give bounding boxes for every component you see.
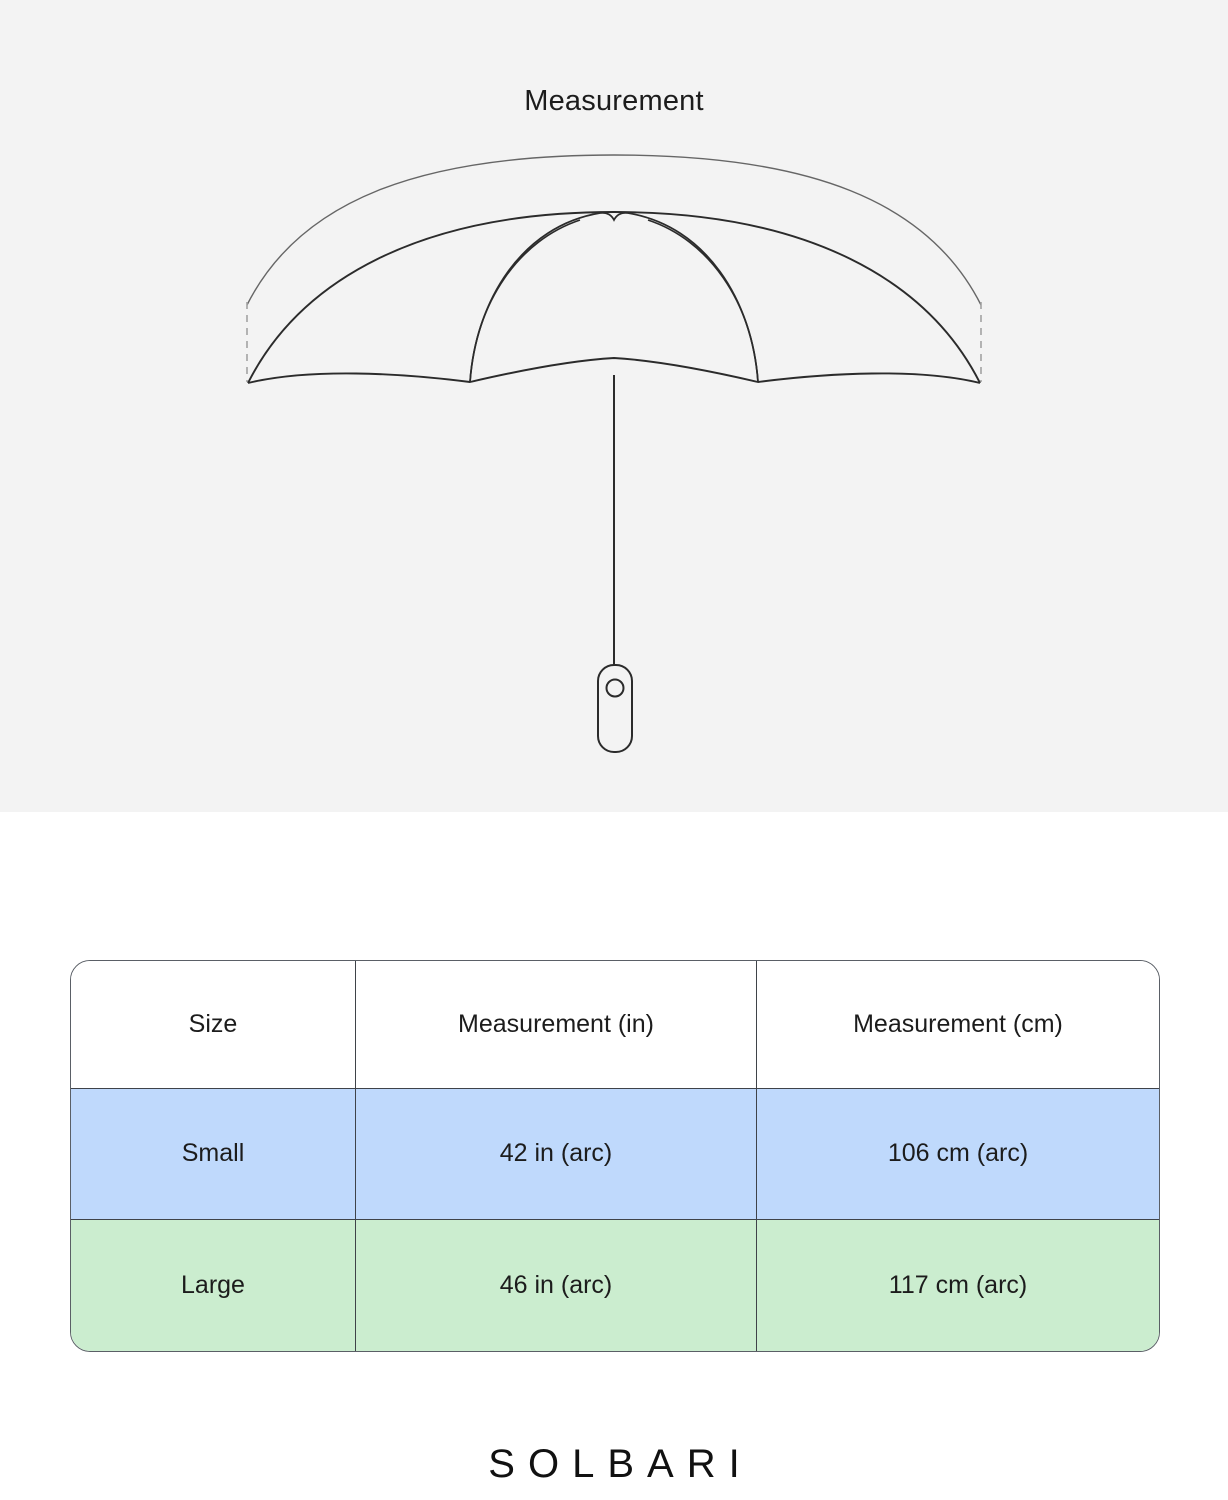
hero-section: Measurement xyxy=(0,0,1228,812)
table-row: Large 46 in (arc) 117 cm (arc) xyxy=(71,1220,1159,1351)
page-title: Measurement xyxy=(0,84,1228,119)
table-header-row: Size Measurement (in) Measurement (cm) xyxy=(71,961,1159,1089)
canopy-rib-left xyxy=(470,220,580,382)
handle-button-icon xyxy=(607,680,624,697)
canopy-rib-right xyxy=(648,220,758,382)
table-row: Small 42 in (arc) 106 cm (arc) xyxy=(71,1089,1159,1220)
footer: SOLBARI xyxy=(0,1440,1228,1488)
size-chart-table-wrapper: Size Measurement (in) Measurement (cm) S… xyxy=(70,960,1158,1335)
umbrella-handle xyxy=(598,665,632,752)
cell-inches-small: 42 in (arc) xyxy=(356,1089,757,1220)
cell-inches-large: 46 in (arc) xyxy=(356,1220,757,1351)
cell-size-small: Small xyxy=(71,1089,356,1220)
column-header-measurement-in: Measurement (in) xyxy=(356,961,757,1089)
canopy-center-panel xyxy=(470,213,758,382)
column-header-measurement-cm: Measurement (cm) xyxy=(757,961,1159,1089)
size-chart-table: Size Measurement (in) Measurement (cm) S… xyxy=(70,960,1160,1352)
column-header-size: Size xyxy=(71,961,356,1089)
cell-size-large: Large xyxy=(71,1220,356,1351)
measurement-arc xyxy=(247,155,981,305)
cell-centimeters-small: 106 cm (arc) xyxy=(757,1089,1159,1220)
umbrella-illustration xyxy=(0,130,1228,780)
cell-centimeters-large: 117 cm (arc) xyxy=(757,1220,1159,1351)
brand-logo: SOLBARI xyxy=(0,1440,1228,1488)
